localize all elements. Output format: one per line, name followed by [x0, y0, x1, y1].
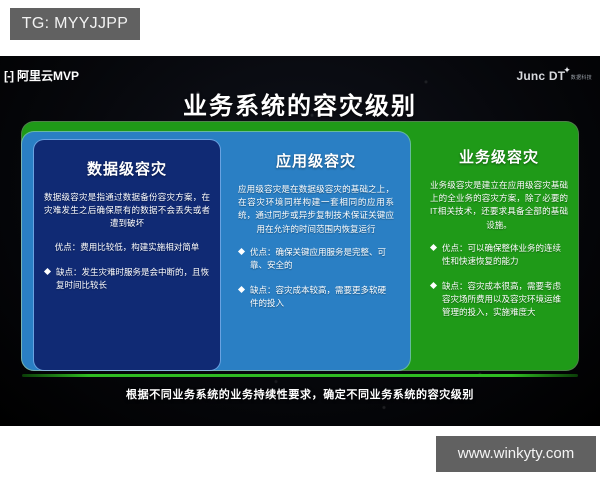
- bullet-text: 缺点：发生灾难时服务是会中断的，且恢复时间比较长: [56, 267, 209, 290]
- card-application-level: 应用级容灾 应用级容灾是在数据级容灾的基础之上，在容灾环境同样构建一套相同的应用…: [228, 132, 404, 370]
- bullet-advantage: 优点：确保关键应用服务是完整、可靠、安全的: [238, 246, 394, 272]
- juncdt-logo: Junc DT ✦ 数据科技: [517, 70, 593, 82]
- juncdt-sublabel: 数据科技: [571, 76, 592, 82]
- bullet-disadvantage: 缺点：容灾成本很高，需要考虑容灾场所费用以及容灾环境运维管理的投入，实施难度大: [430, 280, 568, 320]
- tg-handle-tag: TG: MYYJJPP: [10, 8, 140, 40]
- alibaba-cloud-mvp-label: 阿里云MVP: [17, 70, 79, 82]
- alibaba-cloud-bracket-icon: [-]: [4, 70, 13, 82]
- card-bullet-list: 优点：可以确保整体业务的连续性和快速恢复的能力 缺点：容灾成本很高，需要考虑容灾…: [430, 242, 568, 320]
- bullet-disadvantage: 缺点：容灾成本较高，需要更多软硬件的投入: [238, 284, 394, 310]
- footer-divider: [22, 374, 578, 377]
- bullet-text: 优点：确保关键应用服务是完整、可靠、安全的: [250, 247, 386, 270]
- card-business-level: 业务级容灾 业务级容灾是建立在应用级容灾基础上的全业务的容灾方案，除了必要的IT…: [420, 122, 578, 370]
- presentation-slide: [-] 阿里云MVP Junc DT ✦ 数据科技 业务系统的容灾级别 数据级容…: [0, 56, 600, 426]
- card-title: 业务级容灾: [430, 146, 568, 167]
- slide-footer-text: 根据不同业务系统的业务持续性要求，确定不同业务系统的容灾级别: [0, 386, 600, 402]
- bullet-text: 优点：可以确保整体业务的连续性和快速恢复的能力: [442, 243, 561, 266]
- card-body: 数据级容灾是指通过数据备份容灾方案，在灾难发生之后确保原有的数据不会丢失或者遭到…: [44, 191, 210, 231]
- card-body: 应用级容灾是在数据级容灾的基础之上，在容灾环境同样构建一套相同的应用系统，通过同…: [238, 183, 394, 236]
- card-title: 数据级容灾: [44, 158, 210, 179]
- card-bullet-list: 优点：确保关键应用服务是完整、可靠、安全的 缺点：容灾成本较高，需要更多软硬件的…: [238, 246, 394, 311]
- slide-title: 业务系统的容灾级别: [0, 86, 600, 121]
- juncdt-label: Junc DT: [517, 70, 566, 82]
- card-data-level: 数据级容灾 数据级容灾是指通过数据备份容灾方案，在灾难发生之后确保原有的数据不会…: [34, 140, 220, 370]
- bullet-advantage: 优点：可以确保整体业务的连续性和快速恢复的能力: [430, 242, 568, 268]
- diamond-bullet-icon: [238, 248, 245, 255]
- card-title: 应用级容灾: [238, 150, 394, 171]
- diamond-bullet-icon: [430, 282, 437, 289]
- diamond-bullet-icon: [238, 286, 245, 293]
- bullet-advantage: 优点：费用比较低，构建实施相对简单: [44, 241, 210, 254]
- bullet-disadvantage: 缺点：发生灾难时服务是会中断的，且恢复时间比较长: [44, 266, 210, 292]
- site-watermark: www.winkyty.com: [436, 436, 596, 472]
- sparkle-icon: ✦: [563, 66, 571, 75]
- diamond-bullet-icon: [44, 268, 51, 275]
- diamond-bullet-icon: [430, 244, 437, 251]
- card-bullet-list: 优点：费用比较低，构建实施相对简单 缺点：发生灾难时服务是会中断的，且恢复时间比…: [44, 241, 210, 293]
- bullet-text: 缺点：容灾成本较高，需要更多软硬件的投入: [250, 285, 386, 308]
- alibaba-cloud-mvp-logo: [-] 阿里云MVP: [4, 70, 79, 82]
- bullet-text: 缺点：容灾成本很高，需要考虑容灾场所费用以及容灾环境运维管理的投入，实施难度大: [442, 281, 561, 317]
- card-body: 业务级容灾是建立在应用级容灾基础上的全业务的容灾方案，除了必要的IT相关技术，还…: [430, 179, 568, 232]
- bullet-text: 优点：费用比较低，构建实施相对简单: [55, 242, 200, 252]
